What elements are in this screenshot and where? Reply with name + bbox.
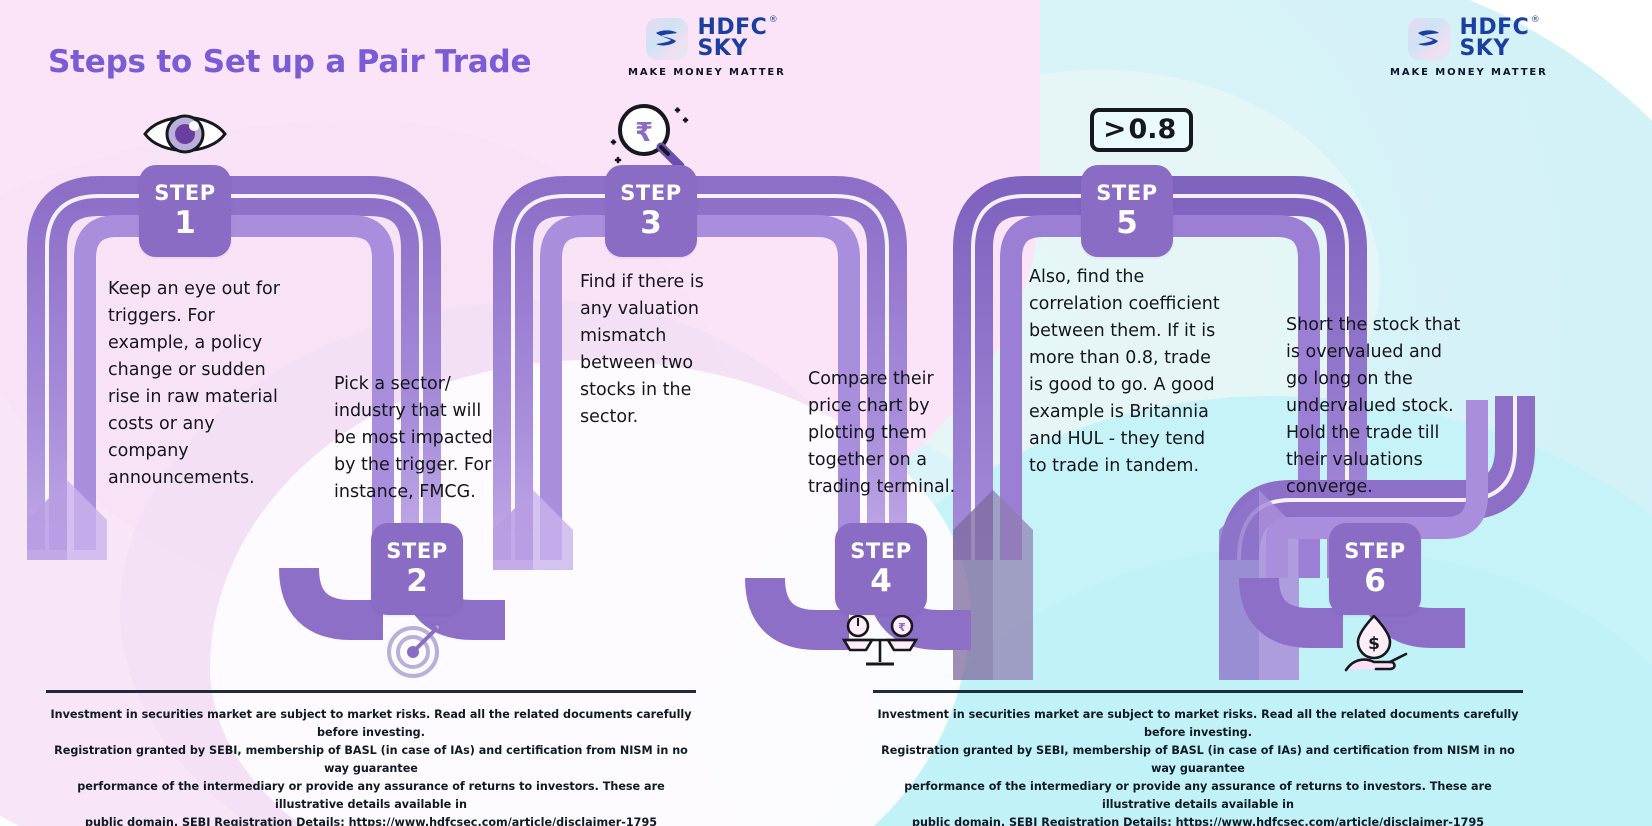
logo-registered-icon: ® <box>1531 16 1541 24</box>
logo-hdfc-label: HDFC <box>697 15 767 40</box>
correlation-value: 0.8 <box>1128 116 1176 143</box>
infographic-canvas: Steps to Set up a Pair Trade HDFC® SKY M… <box>0 0 1652 826</box>
step-badge-number: 6 <box>1364 565 1386 598</box>
step-badge-2[interactable]: STEP 2 <box>371 523 463 615</box>
logo-tagline: MAKE MONEY MATTER <box>1390 67 1548 78</box>
step-badge-label: STEP <box>850 541 912 562</box>
logo-wordmark: HDFC® SKY <box>1459 18 1529 59</box>
logo-wordmark: HDFC® SKY <box>697 18 767 59</box>
step-badge-number: 3 <box>640 207 662 240</box>
step-text-5: Also, find the correlation coefficient b… <box>1029 264 1225 480</box>
logo-sky-label: SKY <box>697 39 767 60</box>
step-badge-6[interactable]: STEP 6 <box>1329 523 1421 615</box>
step-badge-label: STEP <box>386 541 448 562</box>
disclaimer-left: Investment in securities market are subj… <box>46 690 696 826</box>
logo-row: HDFC® SKY <box>646 18 767 60</box>
page-title: Steps to Set up a Pair Trade <box>48 44 531 80</box>
disclaimer-text: Investment in securities market are subj… <box>873 706 1523 826</box>
logo-row: HDFC® SKY <box>1408 18 1529 60</box>
svg-text:₹: ₹ <box>635 118 653 148</box>
logo-hdfc-label: HDFC <box>1459 15 1529 40</box>
step-badge-label: STEP <box>154 183 216 204</box>
step-text-2: Pick a sector/ industry that will be mos… <box>334 371 502 506</box>
hdfc-sky-mark-icon <box>646 18 688 60</box>
step-text-3: Find if there is any valuation mismatch … <box>580 269 708 431</box>
hand-money-drop-icon: $ <box>1340 614 1416 681</box>
step-badge-number: 1 <box>174 207 196 240</box>
disclaimer-divider <box>46 690 696 693</box>
step-badge-1[interactable]: STEP 1 <box>139 165 231 257</box>
hdfc-sky-mark-icon <box>1408 18 1450 60</box>
greater-than-glyph: > <box>1103 115 1126 143</box>
balance-scale-icon: ₹ <box>836 614 924 675</box>
brand-logo-center: HDFC® SKY MAKE MONEY MATTER <box>628 18 786 78</box>
target-icon <box>383 618 449 685</box>
step-badge-5[interactable]: STEP 5 <box>1081 165 1173 257</box>
svg-text:₹: ₹ <box>898 621 906 634</box>
step-text-6: Short the stock that is overvalued and g… <box>1286 312 1464 501</box>
step-text-4: Compare their price chart by plotting th… <box>808 366 958 501</box>
step-badge-label: STEP <box>1096 183 1158 204</box>
logo-tagline: MAKE MONEY MATTER <box>628 67 786 78</box>
disclaimer-divider <box>873 690 1523 693</box>
eye-icon <box>139 104 231 169</box>
step-badge-3[interactable]: STEP 3 <box>605 165 697 257</box>
step-badge-4[interactable]: STEP 4 <box>835 523 927 615</box>
logo-registered-icon: ® <box>769 16 779 24</box>
logo-sky-label: SKY <box>1459 39 1529 60</box>
step-badge-number: 4 <box>870 565 892 598</box>
step-badge-number: 5 <box>1116 207 1138 240</box>
step-badge-number: 2 <box>406 565 428 598</box>
logo-hdfc-text: HDFC® <box>1459 18 1529 39</box>
svg-text:$: $ <box>1368 634 1380 654</box>
logo-hdfc-text: HDFC® <box>697 18 767 39</box>
brand-logo-right: HDFC® SKY MAKE MONEY MATTER <box>1390 18 1548 78</box>
disclaimer-right: Investment in securities market are subj… <box>873 690 1523 826</box>
step-text-1: Keep an eye out for triggers. For exampl… <box>108 276 280 492</box>
step-badge-label: STEP <box>1344 541 1406 562</box>
correlation-threshold-icon: > 0.8 <box>1090 108 1193 152</box>
disclaimer-text: Investment in securities market are subj… <box>46 706 696 826</box>
step-badge-label: STEP <box>620 183 682 204</box>
